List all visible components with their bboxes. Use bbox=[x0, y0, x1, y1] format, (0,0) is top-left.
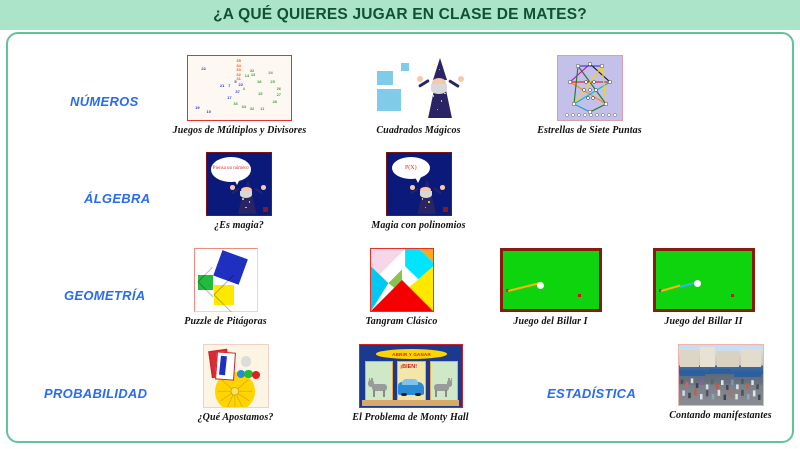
category-label-geometria: GEOMETRÍA bbox=[64, 288, 145, 303]
header-band: ¿A QUÉ QUIERES JUGAR EN CLASE DE MATES? bbox=[0, 0, 800, 30]
monty-door-text: ¡BIEN! bbox=[400, 364, 417, 370]
cards-roulette-icon bbox=[203, 344, 269, 408]
tile-contando-manifestantes[interactable]: Contando manifestantes bbox=[638, 344, 800, 421]
caption-cuadrados-magicos: Cuadrados Mágicos bbox=[326, 125, 511, 136]
caption-que-apostamos: ¿Qué Apostamos? bbox=[158, 412, 313, 423]
thumb-tangram-clasico[interactable] bbox=[370, 248, 434, 312]
thumb-estrellas-siete-puntas[interactable] bbox=[557, 55, 623, 121]
caption-es-magia: ¿Es magia? bbox=[154, 220, 324, 231]
tile-juegos-multiplos-divisores[interactable]: 22 35 34 33 32 31 32 14 13 24 18 25 26 2… bbox=[147, 55, 332, 136]
thumb-juego-billar-1[interactable] bbox=[500, 248, 602, 312]
caption-juegos-multiplos-divisores: Juegos de Múltiplos y Divisores bbox=[147, 125, 332, 136]
billiard-table-icon bbox=[653, 248, 755, 312]
caption-puzzle-pitagoras: Puzzle de Pitágoras bbox=[148, 316, 303, 327]
tile-magia-polinomios[interactable]: P(X) Magia con polinomios bbox=[326, 152, 511, 231]
caption-monty-hall: El Problema de Monty Hall bbox=[318, 412, 503, 423]
tile-estrellas-siete-puntas[interactable]: Estrellas de Siete Puntas bbox=[497, 55, 682, 136]
category-label-numeros: NÚMEROS bbox=[70, 94, 139, 109]
tile-es-magia[interactable]: Piensa un número ¿Es magia? bbox=[154, 152, 324, 231]
category-label-probabilidad: PROBABILIDAD bbox=[44, 386, 147, 401]
category-label-algebra: ÁLGEBRA bbox=[84, 191, 150, 206]
caption-magia-polinomios: Magia con polinomios bbox=[326, 220, 511, 231]
pythagoras-squares-icon bbox=[194, 248, 258, 312]
thumb-contando-manifestantes[interactable] bbox=[678, 344, 764, 406]
number-scatter-icon: 22 35 34 33 32 31 32 14 13 24 18 25 26 2… bbox=[187, 55, 292, 121]
thumb-cuadrados-magicos[interactable] bbox=[369, 55, 469, 121]
thumb-magia-polinomios[interactable]: P(X) bbox=[386, 152, 452, 216]
tile-puzzle-pitagoras[interactable]: Puzzle de Pitágoras bbox=[148, 248, 303, 327]
wizard-bubble-icon: Piensa un número bbox=[206, 152, 272, 216]
wizard-bubble-icon: P(X) bbox=[386, 152, 452, 216]
crowd-photo-icon bbox=[678, 344, 764, 406]
thumb-juego-billar-2[interactable] bbox=[653, 248, 755, 312]
tangram-icon bbox=[370, 248, 434, 312]
billiard-table-icon bbox=[500, 248, 602, 312]
thumb-puzzle-pitagoras[interactable] bbox=[194, 248, 258, 312]
tile-que-apostamos[interactable]: ¿Qué Apostamos? bbox=[158, 344, 313, 423]
page-title: ¿A QUÉ QUIERES JUGAR EN CLASE DE MATES? bbox=[213, 6, 587, 24]
monty-sign-text: ABRIR Y GANAR bbox=[375, 348, 448, 360]
thumb-que-apostamos[interactable] bbox=[203, 344, 269, 408]
seven-point-star-icon bbox=[557, 55, 623, 121]
caption-juego-billar-2: Juego del Billar II bbox=[621, 316, 786, 327]
tile-tangram-clasico[interactable]: Tangram Clásico bbox=[324, 248, 479, 327]
tile-cuadrados-magicos[interactable]: Cuadrados Mágicos bbox=[326, 55, 511, 136]
thumb-monty-hall[interactable]: ABRIR Y GANAR ¡BIEN! bbox=[359, 344, 463, 408]
tile-juego-billar-1[interactable]: Juego del Billar I bbox=[468, 248, 633, 327]
caption-tangram-clasico: Tangram Clásico bbox=[324, 316, 479, 327]
content-frame: NÚMEROS 22 35 34 33 32 31 32 14 13 24 18… bbox=[6, 32, 794, 443]
caption-contando-manifestantes: Contando manifestantes bbox=[638, 410, 800, 421]
tile-juego-billar-2[interactable]: Juego del Billar II bbox=[621, 248, 786, 327]
caption-estrellas-siete-puntas: Estrellas de Siete Puntas bbox=[497, 125, 682, 136]
category-label-estadistica: ESTADÍSTICA bbox=[547, 386, 636, 401]
thumb-juegos-multiplos-divisores[interactable]: 22 35 34 33 32 31 32 14 13 24 18 25 26 2… bbox=[187, 55, 292, 121]
caption-juego-billar-1: Juego del Billar I bbox=[468, 316, 633, 327]
wizard-with-squares-icon bbox=[369, 55, 469, 121]
tile-monty-hall[interactable]: ABRIR Y GANAR ¡BIEN! bbox=[318, 344, 503, 423]
monty-hall-doors-icon: ABRIR Y GANAR ¡BIEN! bbox=[359, 344, 463, 408]
thumb-es-magia[interactable]: Piensa un número bbox=[206, 152, 272, 216]
